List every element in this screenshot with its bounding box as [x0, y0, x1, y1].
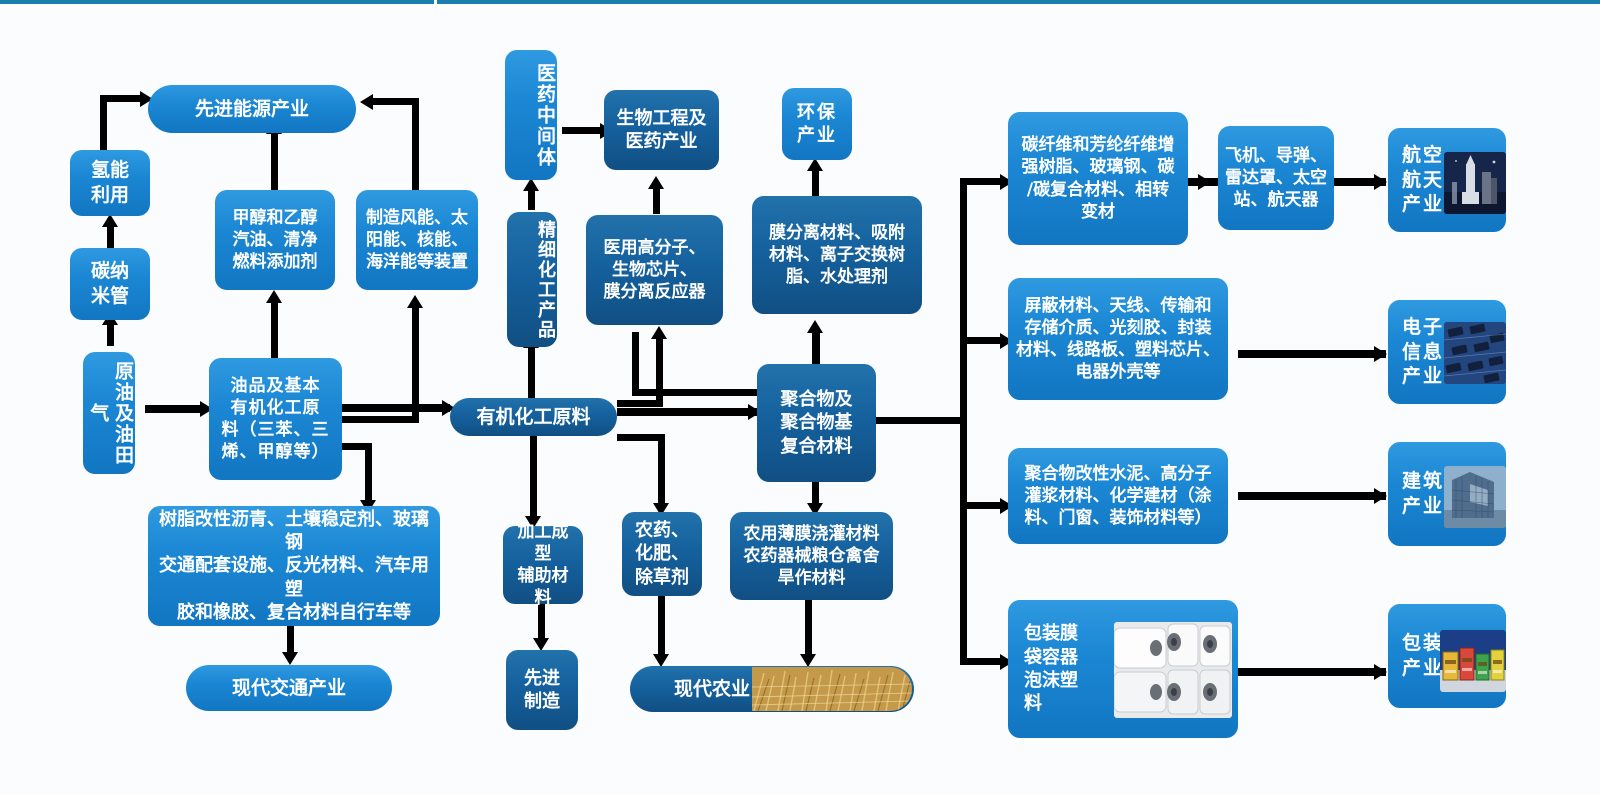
node-hydrogen-use[interactable]: 氢能 利用	[70, 150, 150, 216]
node-wind-solar-devices[interactable]: 制造风能、太 阳能、核能、 海洋能等装置	[356, 190, 478, 290]
arrowhead-medpoly	[651, 326, 667, 339]
node-agricultural-film[interactable]: 农用薄膜浇灌材料 农药器械粮仓禽舍 旱作材料	[730, 512, 893, 600]
edge-resin-to-transport	[287, 625, 294, 655]
arrowhead-transport	[282, 652, 298, 665]
node-pesticide-fertilizer[interactable]: 农药、 化肥、 除草剂	[622, 512, 702, 596]
edge-basic-to-organic	[340, 404, 450, 412]
node-polymer-cement[interactable]: 聚合物改性水泥、高分子 灌浆材料、化学建材（涂 料、门窗、装饰材料等）	[1008, 448, 1228, 544]
edge-right-trunk	[960, 178, 967, 665]
edge-wind-left	[372, 98, 419, 105]
arrowhead-advanced-energy-right	[360, 94, 373, 110]
edge-secondary-to-polymer-v	[632, 332, 639, 394]
node-organic-chemical-raw[interactable]: 有机化工原料	[450, 398, 617, 436]
edge-secondary-to-polymer-h	[632, 389, 759, 396]
node-crude-oil-and-gas[interactable]: 原油及油田气	[83, 352, 135, 474]
edge-membrane-to-env	[812, 168, 819, 196]
node-oil-and-basic-organic[interactable]: 油品及基本 有机化工原 料（三苯、三 烯、甲醇等）	[209, 358, 342, 480]
edge-polymer-to-membrane	[812, 330, 820, 365]
arrowhead-aircraft	[1198, 174, 1211, 190]
edge-organic-to-processing	[530, 434, 537, 519]
edge-agrifilm-to-agri	[805, 600, 812, 657]
arrowhead-wind	[407, 295, 423, 308]
arrowhead-construction	[1374, 488, 1387, 504]
node-advanced-energy-industry[interactable]: 先进能源产业	[148, 85, 356, 133]
arrowhead-methanol	[266, 290, 282, 303]
flowchart-canvas: 先进能源产业 氢能 利用 碳纳 米管 原油及油田气 油品及基本 有机化工原 料（…	[0, 0, 1600, 795]
edge-cement-to-construction	[1238, 492, 1386, 500]
node-bioengineering-pharma[interactable]: 生物工程及 医药产业	[604, 90, 719, 170]
arrowhead-electronic	[1374, 346, 1387, 362]
node-advanced-manufacturing[interactable]: 先进 制造	[506, 650, 578, 730]
top-rule-gap	[434, 0, 437, 4]
node-shielding-materials[interactable]: 屏蔽材料、天线、传输和 存储介质、光刻胶、封装 材料、线路板、塑料芯片、 电器外…	[1008, 278, 1228, 400]
edge-basic-to-methanol	[271, 300, 278, 358]
edge-oil-to-basic	[145, 405, 203, 413]
node-methanol-ethanol[interactable]: 甲醇和乙醇 汽油、清净 燃料添加剂	[215, 190, 335, 290]
edge-packfilm-to-packind	[1238, 668, 1386, 676]
node-fine-chemical-products[interactable]: 精细化工产品	[507, 212, 557, 347]
edge-branch-packaging	[960, 658, 1004, 665]
node-carbon-fiber-resin[interactable]: 碳纤维和芳纶纤维增 强树脂、玻璃钢、碳 /碳复合材料、相转 变材	[1008, 112, 1188, 245]
edge-organic-to-medpoly-v	[656, 336, 663, 407]
node-carbon-nanotube[interactable]: 碳纳 米管	[70, 248, 150, 320]
node-processing-aux-materials[interactable]: 加工成型 辅助材料	[503, 526, 583, 604]
node-medical-polymer[interactable]: 医用高分子、 生物芯片、 膜分离反应器	[586, 215, 723, 325]
node-aircraft-missile[interactable]: 飞机、导弹、 雷达罩、太空 站、航天器	[1218, 126, 1334, 230]
node-environmental-industry[interactable]: 环保 产业	[782, 88, 852, 160]
arrowhead-aerospace	[1374, 174, 1387, 190]
edge-organic-to-fine	[528, 345, 535, 400]
edge-basic-to-resin-v	[365, 443, 372, 503]
edge-organic-to-polymer	[617, 408, 757, 416]
edge-branch-cement	[960, 502, 1004, 509]
edge-h2-up	[100, 95, 107, 152]
rocket-launch-photo	[1444, 152, 1506, 214]
node-resin-modified-asphalt[interactable]: 树脂改性沥青、土壤稳定剂、玻璃钢 交通配套设施、反光材料、汽车用塑 胶和橡胶、复…	[148, 506, 440, 626]
edge-oil-to-cnt	[107, 322, 114, 346]
edge-wind-up	[412, 98, 419, 192]
semiconductor-chips-photo	[1444, 322, 1506, 384]
edge-branch-shielding	[960, 337, 1004, 344]
cctv-building-photo	[1444, 466, 1506, 528]
edge-pest-to-agri	[658, 594, 665, 657]
edge-organic-to-wind-base	[340, 416, 419, 423]
plastic-film-rolls-photo	[1114, 622, 1232, 718]
edge-polymer-trunk-stub	[876, 417, 966, 424]
edge-branch-carbonfiber	[960, 178, 1004, 185]
top-rule	[0, 0, 1600, 4]
edge-medpoly-to-bio	[653, 186, 660, 214]
edge-methanol-to-energy	[271, 131, 278, 191]
node-modern-transport-industry[interactable]: 现代交通产业	[186, 665, 392, 711]
edge-fine-to-pharma	[528, 188, 535, 210]
arrowhead-membrane	[807, 320, 823, 333]
node-polymer-composites[interactable]: 聚合物及 聚合物基 复合材料	[757, 364, 876, 482]
edge-shielding-to-electronic	[1238, 350, 1386, 358]
node-membrane-separation[interactable]: 膜分离材料、吸附 材料、离子交换树 脂、水处理剂	[752, 196, 922, 314]
arrowhead-bio-bottom	[648, 176, 664, 189]
wheat-field-photo	[752, 667, 912, 711]
node-pharma-intermediate[interactable]: 医药中间体	[505, 50, 557, 180]
arrowhead-packaging-industry	[1374, 664, 1387, 680]
edge-h2-right	[100, 95, 142, 102]
edge-cnt-to-h2	[107, 224, 114, 248]
edge-organic-to-pest-v	[658, 434, 665, 506]
packaging-boxes-photo	[1440, 630, 1506, 692]
